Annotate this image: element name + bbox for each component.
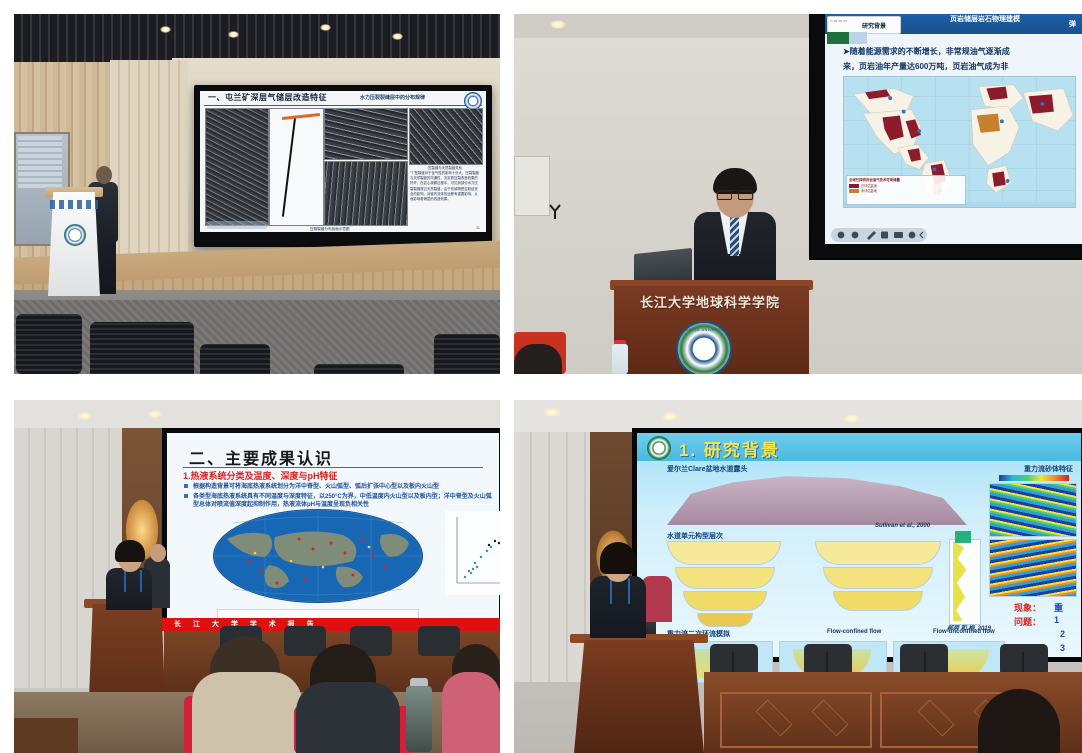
downlight-icon: [844, 414, 860, 423]
slide-title-rule: [183, 467, 483, 468]
presenter-tie: [730, 216, 739, 256]
ppt-section-tab: 研究背景: [862, 21, 886, 30]
projection-screen[interactable]: 页岩储层岩石物理建模 弹 ⌂ ▭ ▭ ▭ 研究背景 ➤随着能源需求的不断增长，非…: [809, 14, 1082, 260]
presenter-hair: [115, 540, 145, 562]
downlight-icon: [320, 24, 331, 31]
ppt-tab-labels: ⌂ ▭ ▭ ▭: [830, 18, 847, 23]
seismic-panel: [989, 539, 1077, 597]
section-label-1: 爱尔兰Clare盆地水道露头: [667, 464, 748, 474]
lectern-text: [50, 200, 98, 209]
bullet-marker: [184, 494, 188, 498]
speaker-head: [96, 166, 112, 184]
led-screen[interactable]: 一、屯兰矿深层气储层改造特征 水力压裂裂缝层中的分布规律 压裂缝与天然裂缝关系 …: [194, 85, 492, 247]
slide-bullet-2: 来，页岩油年产量达600万吨，页岩油气成为非: [843, 59, 1082, 74]
slide-toolbar[interactable]: [831, 228, 927, 242]
downlight-icon: [78, 412, 92, 420]
slide-surface: 页岩储层岩石物理建模 弹 ⌂ ▭ ▭ ▭ 研究背景 ➤随着能源需求的不断增长，非…: [825, 14, 1082, 244]
chair: [434, 334, 500, 374]
core-photo-1: [205, 108, 269, 226]
glasses-icon: [717, 190, 753, 198]
core-photo-3: [324, 161, 408, 226]
photo-bottom-right[interactable]: 1. 研究背景 爱尔兰Clare盆地水道露头 Sullivan et al., …: [514, 400, 1082, 753]
seismic-panel: [989, 483, 1077, 537]
slide-accent-green: [827, 32, 849, 44]
water-bottle: [612, 344, 628, 374]
question-label: 问题：: [1014, 615, 1041, 628]
observation-label: 现象：: [1014, 601, 1041, 614]
question-item-1: 1: [1054, 615, 1059, 625]
core-photo-4: [409, 108, 483, 165]
slide-toolbar[interactable]: [206, 221, 268, 229]
architecture-panel: [667, 541, 781, 565]
chair: [16, 314, 82, 374]
podium-seal-icon: YANGTZE UNIVERSITY: [676, 321, 732, 374]
legend-label-unassessed: 未评估盆地: [861, 188, 877, 193]
wall-panel: [514, 432, 592, 682]
colorbar: [999, 475, 1069, 481]
podium-seal-text: YANGTZE UNIVERSITY: [678, 323, 730, 332]
photo-top-left[interactable]: 一、屯兰矿深层气储层改造特征 水力压裂裂缝层中的分布规律 压裂缝与天然裂缝关系 …: [14, 14, 500, 374]
slide-accent-blue: [849, 32, 867, 44]
podium: [574, 640, 704, 753]
outcrop-photo: [667, 473, 967, 525]
photo-top-right[interactable]: 页岩储层岩石物理建模 弹 ⌂ ▭ ▭ ▭ 研究背景 ➤随着能源需求的不断增长，非…: [514, 14, 1082, 374]
slide-body-text: "T"型裂缝对于含气性的影响十分大，压裂裂缝与天然裂缝的沟通性，决定着压裂改造效…: [410, 171, 480, 202]
audience-body: [442, 672, 500, 753]
well-log-header: [955, 531, 971, 543]
section-label-right: 重力流砂体特征: [1024, 464, 1073, 474]
slide-header-title: 页岩储层岩石物理建模: [930, 15, 1040, 24]
desk-front-panel: [720, 692, 872, 748]
architecture-panel: [823, 567, 933, 589]
led-screen[interactable]: 1. 研究背景 爱尔兰Clare盆地水道露头 Sullivan et al., …: [632, 428, 1082, 662]
slide-subtitle: 水力压裂裂缝层中的分布规律: [360, 94, 425, 101]
downlight-icon: [228, 31, 239, 38]
citation-1: Sullivan et al., 2000: [875, 523, 930, 529]
slide-bullet-1: 根据构造背景可将海底热液系统划分为洋中脊型、火山弧型、弧后扩张中心型以及板内火山…: [193, 483, 489, 491]
desk-chair: [418, 626, 460, 656]
figure-label-b: Flow-unconfined flow: [933, 629, 995, 635]
led-screen[interactable]: 二、主要成果认识 1.热液系统分类及温度、深度与pH特征 根据构造背景可将海底热…: [162, 428, 500, 624]
downlight-icon: [160, 26, 171, 33]
question-item-3: 3: [1060, 643, 1065, 653]
slide-caption-right: 压裂缝与天然裂缝关系: [410, 165, 480, 170]
sketch-panel: [269, 108, 324, 226]
architecture-panel: [683, 591, 767, 611]
thermos-bottle: [406, 686, 432, 752]
audience-body: [296, 682, 400, 753]
scatter-plot: [445, 511, 500, 595]
world-hydrothermal-map: [213, 509, 423, 603]
slide-title: 1. 研究背景: [679, 436, 780, 461]
downlight-icon: [550, 20, 566, 29]
wall-hook-icon: [549, 204, 561, 220]
desk-chair: [284, 626, 326, 656]
observation-value: 重: [1054, 601, 1063, 614]
chair: [200, 344, 270, 374]
figure-label-a: Flow-confined flow: [827, 629, 881, 635]
audience-body: [192, 672, 302, 753]
architecture-panel: [833, 591, 923, 611]
map-legend-title: 全球已探明页岩油气技术可采储量: [847, 176, 965, 183]
chair: [314, 364, 404, 374]
lanyard: [124, 570, 142, 592]
presenter-hair: [600, 542, 636, 574]
world-shale-map: 全球已探明页岩油气技术可采储量 已评估盆地 未评估盆地: [843, 76, 1076, 208]
slide-page-number: 11: [476, 225, 480, 230]
slide-surface: 二、主要成果认识 1.热液系统分类及温度、深度与pH特征 根据构造背景可将海底热…: [167, 433, 499, 619]
wall-panel: [514, 156, 550, 216]
downlight-icon: [148, 410, 162, 418]
photo-collage: 一、屯兰矿深层气储层改造特征 水力压裂裂缝层中的分布规律 压裂缝与天然裂缝关系 …: [0, 0, 1082, 753]
slide-caption-center: 压裂裂缝分布剖面示意图: [310, 227, 350, 232]
architecture-panel: [675, 567, 775, 589]
lectern-emblem-icon: [64, 224, 86, 246]
second-person: [642, 576, 672, 622]
slide-subtitle: 1.热液系统分类及温度、深度与pH特征: [183, 469, 338, 482]
downlight-icon: [662, 412, 678, 421]
map-legend: 全球已探明页岩油气技术可采储量 已评估盆地 未评估盆地: [846, 175, 966, 205]
slide-title: 一、屯兰矿深层气储层改造特征: [208, 92, 327, 103]
door-glass: [18, 136, 62, 188]
photo-bottom-left[interactable]: 二、主要成果认识 1.热液系统分类及温度、深度与pH特征 根据构造背景可将海底热…: [14, 400, 500, 753]
slide-header-right: 弹: [1069, 19, 1076, 29]
slide-surface: 一、屯兰矿深层气储层改造特征 水力压裂裂缝层中的分布规律 压裂缝与天然裂缝关系 …: [200, 91, 486, 232]
university-seal-icon: [647, 436, 671, 460]
bullet-marker: [184, 484, 188, 488]
slide-bullet-2: 各类型海底热液系统具有不同温度与深度特征，以250°C为界，中低温度内火山型以及…: [193, 493, 493, 509]
architecture-panel: [815, 541, 941, 565]
slide-title: 二、主要成果认识: [189, 445, 333, 469]
downlight-icon: [544, 408, 560, 417]
architecture-panel: [697, 613, 753, 627]
slide-bullet-1: ➤随着能源需求的不断增长，非常规油气逐渐成: [843, 44, 1082, 59]
front-desk: [14, 718, 78, 753]
section-label-2: 水道单元构型层次: [667, 531, 723, 541]
audience-head: [514, 344, 562, 374]
slide-surface: 1. 研究背景 爱尔兰Clare盆地水道露头 Sullivan et al., …: [637, 433, 1081, 657]
downlight-icon: [392, 33, 403, 40]
podium-institution-text: 长江大学地球科学学院: [620, 292, 800, 311]
question-item-2: 2: [1060, 629, 1065, 639]
second-person-head: [150, 544, 166, 562]
chair: [90, 322, 194, 374]
core-photo-2: [324, 108, 408, 160]
